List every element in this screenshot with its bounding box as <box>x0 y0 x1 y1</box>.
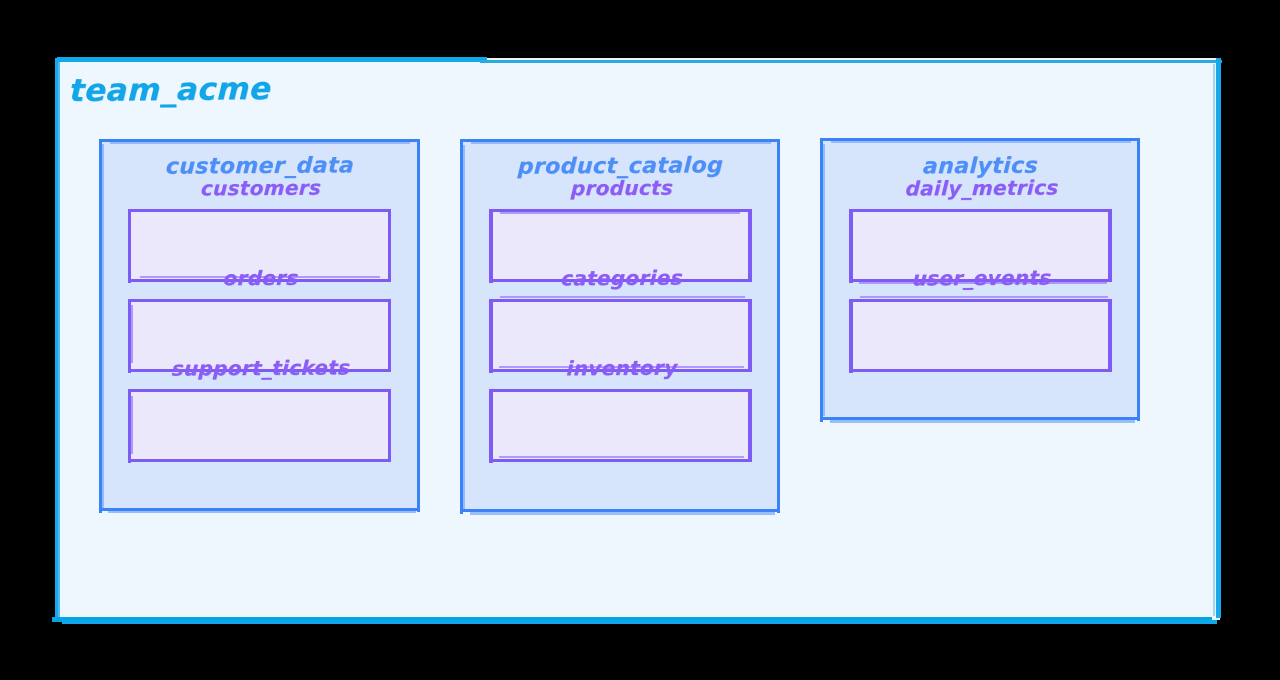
table-label-user-events: user_events <box>849 265 1112 337</box>
table-label-inventory: inventory <box>489 355 752 427</box>
table-label-support-tickets: support_tickets <box>128 355 391 427</box>
frame-title-team-acme: team_acme <box>69 71 272 109</box>
frame-bottom-border-2 <box>62 620 1217 624</box>
table-label-orders: orders <box>128 265 391 337</box>
table-label-daily-metrics: daily_metrics <box>849 175 1112 247</box>
diagram-canvas: team_acme customer_data customers orders… <box>0 0 1280 680</box>
table-label-categories: categories <box>489 265 752 337</box>
table-label-products: products <box>489 175 752 247</box>
table-label-customers: customers <box>128 175 391 247</box>
